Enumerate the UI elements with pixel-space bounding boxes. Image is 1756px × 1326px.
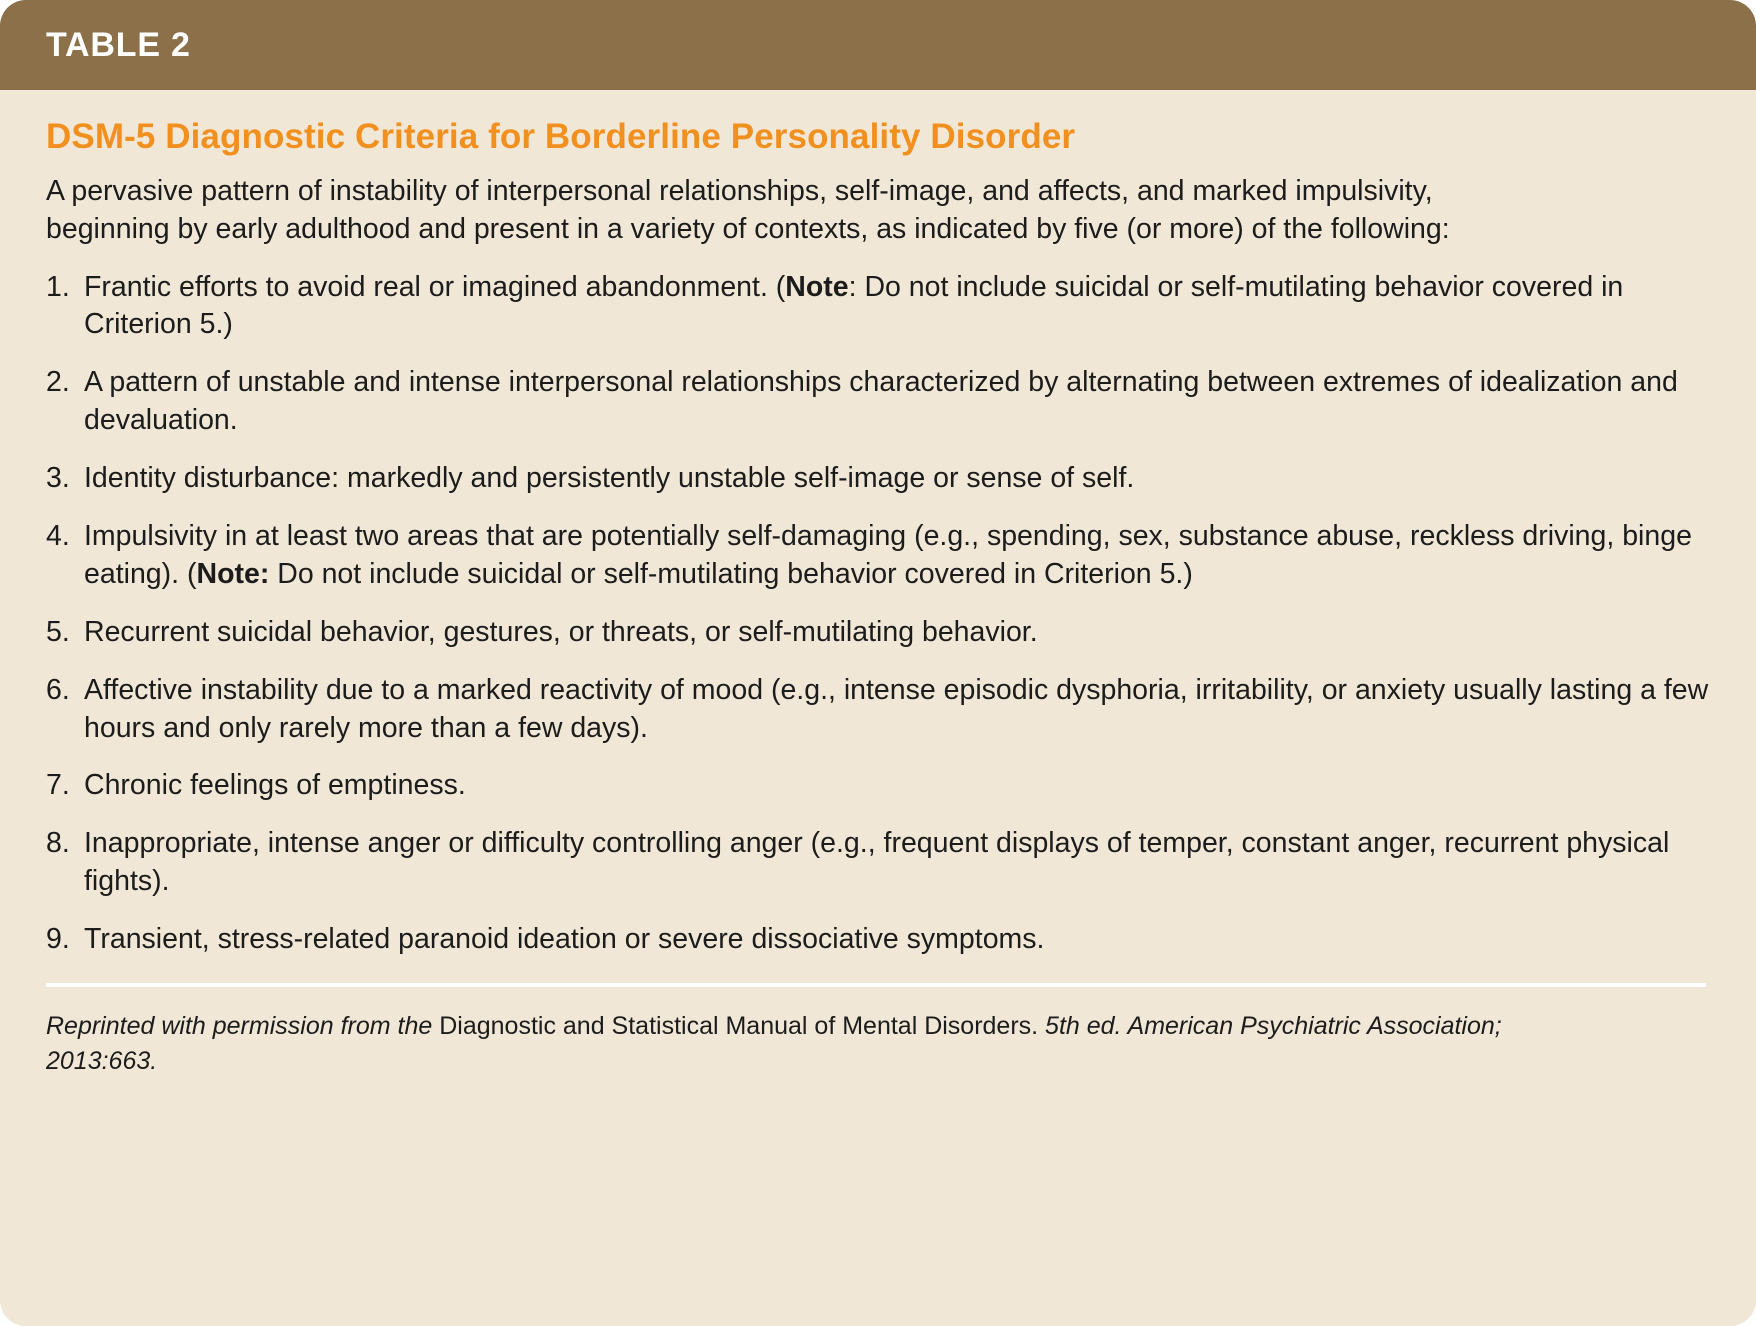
criteria-item-number: 5. xyxy=(46,614,80,652)
criteria-text-run: Inappropriate, intense anger or difficul… xyxy=(84,827,1669,897)
criteria-item-number: 1. xyxy=(46,269,80,307)
criteria-item: 9.Transient, stress-related paranoid ide… xyxy=(46,921,1710,959)
criteria-item-text: Impulsivity in at least two areas that a… xyxy=(84,520,1692,590)
criteria-text-run: Affective instability due to a marked re… xyxy=(84,674,1708,744)
criteria-item: 7.Chronic feelings of emptiness. xyxy=(46,767,1710,805)
criteria-text-run: Chronic feelings of emptiness. xyxy=(84,769,466,801)
criteria-item: 5.Recurrent suicidal behavior, gestures,… xyxy=(46,614,1710,652)
criteria-item: 8.Inappropriate, intense anger or diffic… xyxy=(46,825,1710,901)
footnote-source-citation: Reprinted with permission from the Diagn… xyxy=(46,1009,1526,1110)
table-title: DSM-5 Diagnostic Criteria for Borderline… xyxy=(46,116,1710,157)
criteria-item-number: 7. xyxy=(46,767,80,805)
criteria-item-text: Inappropriate, intense anger or difficul… xyxy=(84,827,1669,897)
criteria-item-number: 8. xyxy=(46,825,80,863)
table-number-label: TABLE 2 xyxy=(46,28,191,62)
criteria-item-text: Transient, stress-related paranoid ideat… xyxy=(84,923,1044,955)
criteria-item-number: 3. xyxy=(46,460,80,498)
criteria-text-run: Transient, stress-related paranoid ideat… xyxy=(84,923,1044,955)
table-card: TABLE 2 DSM-5 Diagnostic Criteria for Bo… xyxy=(0,0,1756,1326)
footnote-divider xyxy=(46,983,1706,987)
criteria-text-run: Identity disturbance: markedly and persi… xyxy=(84,462,1134,494)
criteria-note-emphasis: Note: xyxy=(196,558,269,590)
criteria-item: 3.Identity disturbance: markedly and per… xyxy=(46,460,1710,498)
criteria-text-run: A pattern of unstable and intense interp… xyxy=(84,366,1678,436)
criteria-intro-text: A pervasive pattern of instability of in… xyxy=(46,173,1486,248)
criteria-item: 2.A pattern of unstable and intense inte… xyxy=(46,364,1710,440)
criteria-text-run: Do not include suicidal or self-mutilati… xyxy=(269,558,1193,590)
criteria-item-text: Affective instability due to a marked re… xyxy=(84,674,1708,744)
criteria-item: 6.Affective instability due to a marked … xyxy=(46,672,1710,748)
criteria-item-number: 4. xyxy=(46,518,80,556)
criteria-text-run: Recurrent suicidal behavior, gestures, o… xyxy=(84,616,1038,648)
criteria-item-text: Frantic efforts to avoid real or imagine… xyxy=(84,271,1623,341)
criteria-item-number: 9. xyxy=(46,921,80,959)
criteria-note-emphasis: Note xyxy=(785,271,848,303)
table-body: DSM-5 Diagnostic Criteria for Borderline… xyxy=(0,90,1756,1326)
criteria-item-text: Identity disturbance: markedly and persi… xyxy=(84,462,1134,494)
footnote-text-run: Reprinted with permission from the xyxy=(46,1012,439,1040)
criteria-item-text: A pattern of unstable and intense interp… xyxy=(84,366,1678,436)
criteria-item: 4.Impulsivity in at least two areas that… xyxy=(46,518,1710,594)
table-header-band: TABLE 2 xyxy=(0,0,1756,90)
criteria-item: 1.Frantic efforts to avoid real or imagi… xyxy=(46,269,1710,345)
criteria-item-text: Chronic feelings of emptiness. xyxy=(84,769,466,801)
criteria-text-run: Frantic efforts to avoid real or imagine… xyxy=(84,271,785,303)
footnote-title-run: Diagnostic and Statistical Manual of Men… xyxy=(439,1012,1038,1040)
criteria-item-number: 2. xyxy=(46,364,80,402)
criteria-list: 1.Frantic efforts to avoid real or imagi… xyxy=(46,269,1710,959)
criteria-item-text: Recurrent suicidal behavior, gestures, o… xyxy=(84,616,1038,648)
criteria-item-number: 6. xyxy=(46,672,80,710)
